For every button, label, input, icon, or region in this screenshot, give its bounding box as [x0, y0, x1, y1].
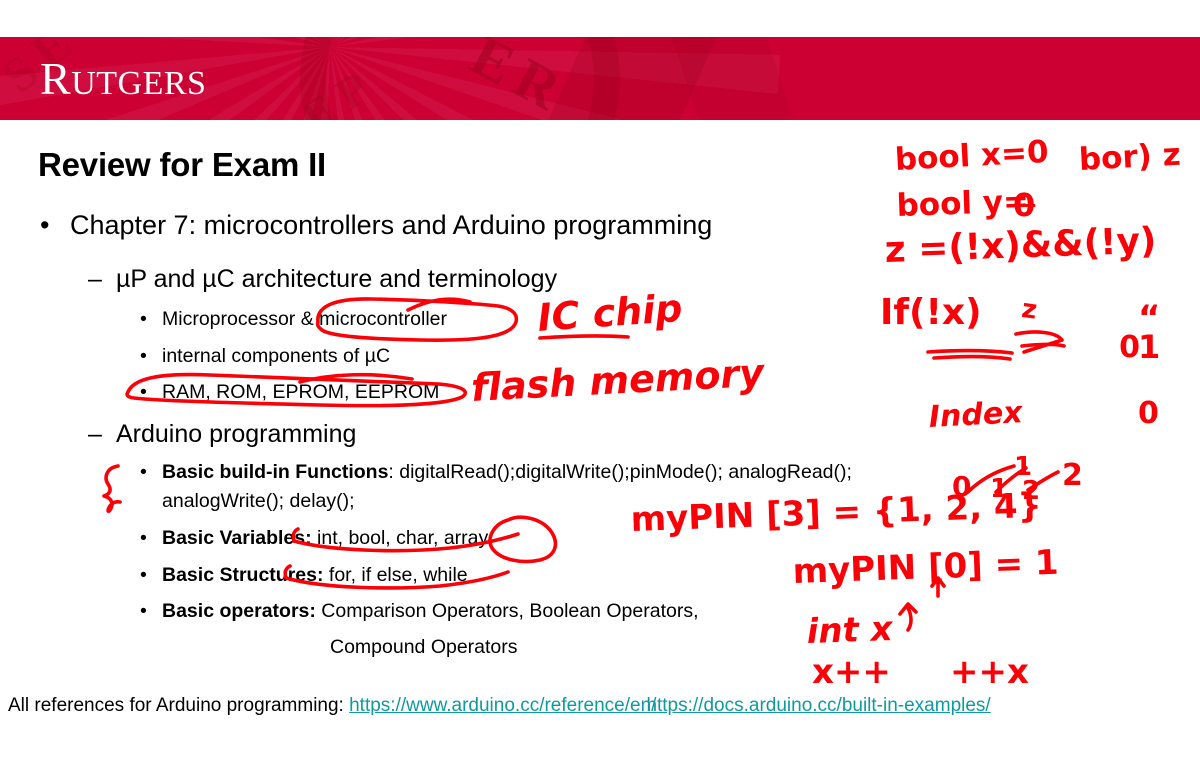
- ink-z-expression: z =(!x)&&(!y): [884, 221, 1157, 271]
- bullet-level3-wrap-text: Compound Operators: [330, 636, 518, 658]
- underline-if-expr: [928, 351, 1012, 353]
- dot-glyph: •: [140, 600, 162, 623]
- arduino-reference-link[interactable]: https://www.arduino.cc/reference/en/: [349, 695, 656, 716]
- bullet-glyph: •: [40, 210, 70, 241]
- bullet-level3-text: : digitalRead();digitalWrite();pinMode()…: [388, 461, 852, 483]
- underline-ic-chip: [540, 336, 628, 338]
- arrow-int-x: [900, 604, 916, 630]
- bullet-level3-basic-structures: •Basic Structures: for, if else, while: [140, 564, 468, 587]
- bullet-level3-bold-label: Basic build-in Functions: [162, 461, 388, 483]
- dash-glyph: –: [88, 420, 116, 449]
- page-title: Review for Exam II: [38, 146, 326, 184]
- underline-if-expr2: [934, 357, 1010, 359]
- bullet-level3-label: internal components of µC: [162, 345, 390, 367]
- index-arrow-0: [968, 466, 1014, 492]
- bullet-level3-internal-components: •internal components of µC: [140, 345, 390, 368]
- bullet-level1-label: Chapter 7: microcontrollers and Arduino …: [70, 210, 712, 240]
- ink-index-label: Index: [928, 395, 1023, 435]
- bullet-level3-label: RAM, ROM, EPROM, EEPROM: [162, 381, 439, 403]
- index-arrow-2: [1028, 472, 1058, 490]
- index-arrow-1: [996, 468, 1026, 492]
- bullet-level3-label: Microprocessor & microcontroller: [162, 308, 447, 330]
- ink-index-2b: 2: [1062, 458, 1083, 493]
- ink-index-1: 1: [990, 474, 1008, 504]
- bullet-level2-label: Arduino programming: [116, 420, 356, 448]
- ink-int-x: int x: [806, 609, 893, 652]
- ink-zero-b: 0: [1138, 396, 1159, 431]
- ink-one: 1: [1138, 328, 1160, 366]
- ink-index-2: 2: [1022, 476, 1040, 506]
- bullet-level3-microprocessor: •Microprocessor & microcontroller: [140, 308, 447, 331]
- arduino-builtin-examples-link[interactable]: https://docs.arduino.cc/built-in-example…: [646, 695, 990, 716]
- bullet-level3-memory-types: •RAM, ROM, EPROM, EEPROM: [140, 381, 439, 404]
- slide-canvas: SE EP ER RUTGERS Review for Exam II •Cha…: [0, 0, 1200, 776]
- ink-bool-bor: bor) z: [1078, 137, 1182, 178]
- ink-zero-a: 0: [1119, 327, 1140, 362]
- ink-mypin-access: myPIN [0] = 1: [792, 543, 1059, 592]
- ink-x-postincrement: x++: [812, 652, 891, 692]
- bullet-level2-label: µP and µC architecture and terminology: [116, 265, 557, 293]
- bullet-level3-bold-label: Basic operators:: [162, 600, 316, 622]
- dot-glyph: •: [140, 308, 162, 331]
- ink-mypin-declaration: myPIN [3] = {1, 2, 4}: [630, 486, 1042, 540]
- ink-flash-memory: flash memory: [470, 351, 765, 410]
- ink-bool-y-value: 0: [1013, 186, 1035, 224]
- bullet-level3-bold-label: Basic Variables:: [162, 527, 312, 549]
- ink-index-0: 0: [952, 470, 971, 503]
- bullet-level3-basic-variables: •Basic Variables: int, bool, char, array: [140, 527, 488, 550]
- ink-if-z: z: [1020, 294, 1039, 326]
- bullet-level3-builtin-functions-wrap: analogWrite(); delay();: [140, 490, 355, 513]
- ink-quote-marks: “: [1138, 298, 1160, 338]
- dash-glyph: –: [88, 265, 116, 294]
- bullet-level3-basic-operators: •Basic operators: Comparison Operators, …: [140, 600, 699, 623]
- ink-ic-chip: IC chip: [536, 286, 684, 340]
- ink-x-preincrement: ++x: [950, 652, 1029, 692]
- bullet-level3-text: for, if else, while: [323, 564, 467, 586]
- ink-if-expression: If(!x): [880, 292, 982, 333]
- bullet-level1-chapter7: •Chapter 7: microcontrollers and Arduino…: [40, 210, 712, 241]
- arrow-mypin-index: [932, 578, 944, 596]
- brace-functions: [104, 466, 120, 511]
- bullet-level2-arduino-programming: –Arduino programming: [88, 420, 356, 449]
- wordmark-initial: R: [40, 53, 71, 104]
- bullet-level3-basic-operators-wrap: Compound Operators: [330, 636, 518, 659]
- ink-bool-x: bool x=0: [894, 134, 1049, 178]
- ink-bool-y: bool y=: [896, 183, 1030, 224]
- bullet-level3-builtin-functions: •Basic build-in Functions: digitalRead()…: [140, 461, 852, 484]
- dot-glyph: •: [140, 381, 162, 404]
- arrow-if-equal2: [1022, 345, 1064, 347]
- bullet-level3-wrap-text: analogWrite(); delay();: [162, 490, 355, 513]
- bullet-level3-text: Comparison Operators, Boolean Operators,: [316, 600, 699, 622]
- arrow-if-equal: [1016, 332, 1062, 352]
- rutgers-wordmark: RUTGERS: [40, 56, 206, 102]
- dot-glyph: •: [140, 345, 162, 368]
- bullet-level2-architecture: –µP and µC architecture and terminology: [88, 265, 557, 294]
- wordmark-rest: UTGERS: [71, 65, 206, 102]
- ink-index-caret: 1: [1014, 452, 1032, 482]
- bullet-level3-text: int, bool, char, array: [312, 527, 489, 549]
- footer-label: All references for Arduino programming:: [8, 695, 349, 716]
- circle-array: [490, 517, 555, 561]
- dot-glyph: •: [140, 527, 162, 550]
- dot-glyph: •: [140, 564, 162, 587]
- footer-references: All references for Arduino programming: …: [8, 695, 991, 717]
- dot-glyph: •: [140, 461, 162, 484]
- bullet-level3-bold-label: Basic Structures:: [162, 564, 323, 586]
